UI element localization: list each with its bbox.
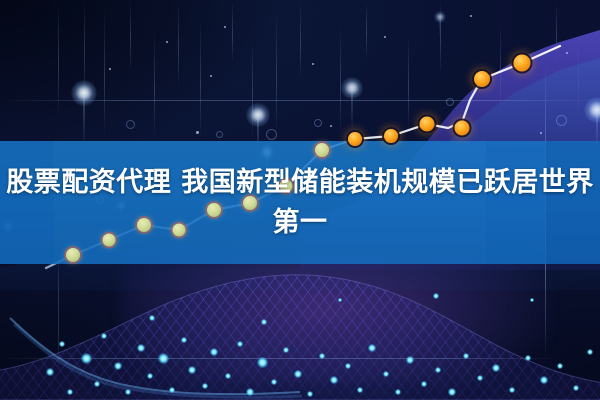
chart-marker: [455, 121, 470, 136]
glow-particle: [257, 357, 268, 368]
headline-line-1: 股票配资代理 我国新型储能装机规模已跃居世界: [6, 163, 593, 203]
glow-particle: [81, 353, 92, 364]
chart-marker: [420, 117, 435, 132]
chart-marker: [474, 71, 490, 87]
secondary-wave: [0, 300, 320, 400]
banner-image: 股票配资代理 我国新型储能装机规模已跃居世界 第一: [0, 0, 600, 400]
glow-particle: [158, 353, 169, 364]
chart-marker: [514, 55, 531, 72]
headline-line-2: 第一: [273, 203, 328, 243]
headline: 股票配资代理 我国新型储能装机规模已跃居世界 第一: [0, 141, 600, 264]
